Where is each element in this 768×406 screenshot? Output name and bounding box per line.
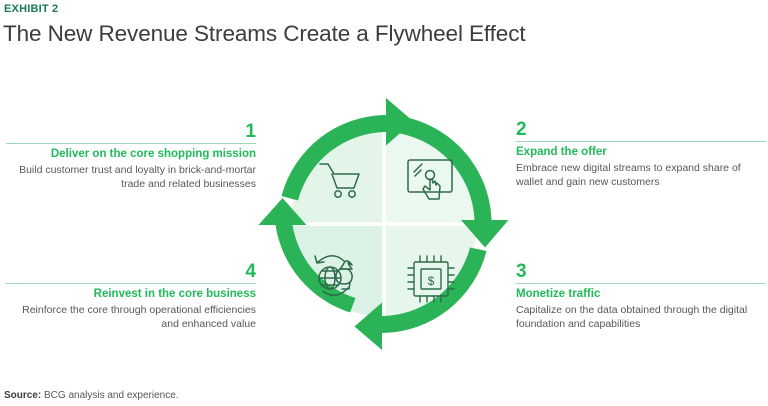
- exhibit-label: EXHIBIT 2: [4, 3, 58, 15]
- callout-block-1: 1 Deliver on the core shopping mission B…: [6, 122, 256, 191]
- callout-number-4: 4: [6, 262, 256, 282]
- callout-heading-3: Monetize traffic: [516, 287, 766, 302]
- source-note: Source: BCG analysis and experience.: [4, 390, 179, 401]
- callout-heading-1: Deliver on the core shopping mission: [6, 147, 256, 162]
- callout-divider-4: [6, 283, 256, 284]
- source-text: BCG analysis and experience.: [44, 390, 179, 401]
- callout-body-3: Capitalize on the data obtained through …: [516, 304, 766, 331]
- callout-divider-3: [516, 283, 766, 284]
- callout-number-2: 2: [516, 120, 766, 140]
- callout-divider-2: [516, 141, 766, 142]
- callout-heading-2: Expand the offer: [516, 145, 766, 160]
- callout-block-3: 3 Monetize traffic Capitalize on the dat…: [516, 262, 766, 331]
- callout-heading-4: Reinvest in the core business: [6, 287, 256, 302]
- flywheel-diagram: $: [252, 86, 516, 362]
- callout-block-4: 4 Reinvest in the core business Reinforc…: [6, 262, 256, 331]
- source-label: Source:: [4, 390, 41, 401]
- callout-block-2: 2 Expand the offer Embrace new digital s…: [516, 120, 766, 189]
- svg-text:$: $: [428, 274, 435, 288]
- callout-body-1: Build customer trust and loyalty in bric…: [6, 164, 256, 191]
- callout-body-4: Reinforce the core through operational e…: [6, 304, 256, 331]
- callout-divider-1: [6, 143, 256, 144]
- page-title: The New Revenue Streams Create a Flywhee…: [3, 21, 526, 47]
- callout-number-3: 3: [516, 262, 766, 282]
- callout-number-1: 1: [6, 122, 256, 142]
- callout-body-2: Embrace new digital streams to expand sh…: [516, 162, 766, 189]
